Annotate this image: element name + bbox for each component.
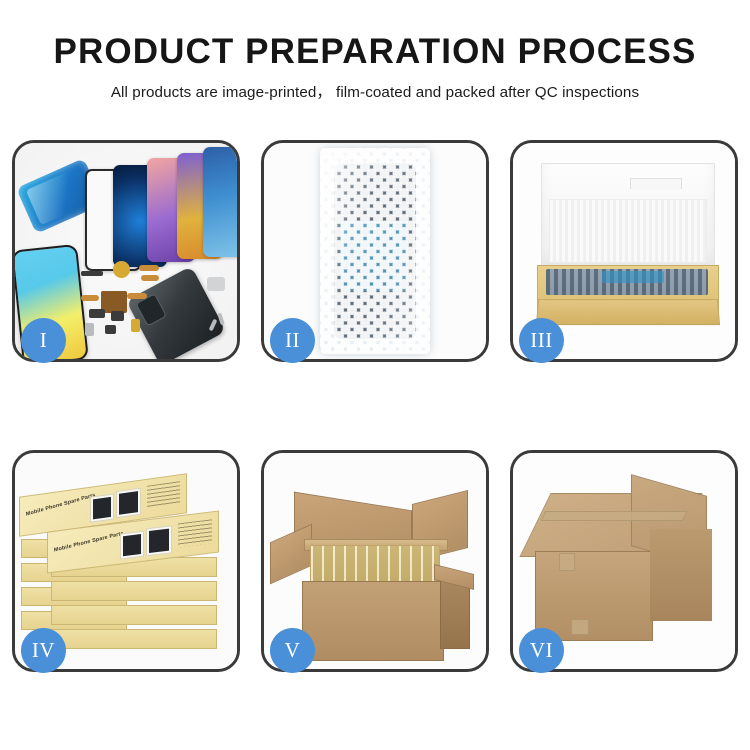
packed-contents: [546, 269, 708, 295]
part-connector-a: [89, 309, 105, 318]
part-flex-d: [127, 293, 147, 299]
steps-grid: I II III: [12, 140, 738, 672]
part-button: [85, 323, 94, 336]
page-subtitle: All products are image-printed， film-coa…: [0, 80, 750, 102]
bubble-wrap-sheet: [320, 148, 430, 354]
step-panel-4: Mobile Phone Spare Parts Mobile Phone Sp…: [12, 450, 240, 672]
part-screw-b: [217, 313, 225, 326]
box-screen-thumb: [146, 525, 172, 556]
part-screw-a: [209, 319, 218, 332]
step-badge-3: III: [519, 318, 564, 363]
carton-front-face: [302, 581, 444, 661]
step-panel-5: V: [261, 450, 489, 672]
part-vibrator: [105, 325, 116, 334]
step-badge-1: I: [21, 318, 66, 363]
step-badge-5: V: [270, 628, 315, 673]
part-battery-tab: [131, 319, 140, 332]
part-flex-b: [141, 275, 159, 281]
part-camera-ring: [113, 261, 130, 278]
seal-tape-front-b: [571, 619, 589, 635]
step-panel-6: VI: [510, 450, 738, 672]
box-spec-lines: [178, 519, 212, 547]
step-panel-1: I: [12, 140, 240, 362]
part-flex-c: [81, 295, 99, 301]
box-screen-thumb: [116, 488, 141, 519]
film-gloss: [320, 148, 430, 354]
carton-front-face: [535, 551, 653, 641]
lid-tab: [630, 178, 682, 189]
box-spec-lines: [147, 481, 180, 509]
carton-right-face: [650, 529, 712, 621]
seal-tape-front-a: [559, 553, 575, 571]
page-title: PRODUCT PREPARATION PROCESS: [0, 34, 750, 71]
product-preparation-infographic: PRODUCT PREPARATION PROCESS All products…: [0, 0, 750, 750]
part-connector-b: [111, 311, 124, 321]
seal-tape-top: [541, 511, 688, 521]
part-speaker: [81, 271, 103, 276]
step-badge-4: IV: [21, 628, 66, 673]
box-screen-thumb: [120, 531, 144, 560]
step-badge-2: II: [270, 318, 315, 363]
carton-flap-left: [270, 524, 312, 585]
step-panel-2: II: [261, 140, 489, 362]
step-badge-6: VI: [519, 628, 564, 673]
foam-insert: [549, 199, 707, 263]
box-label-text: Mobile Phone Spare Parts: [26, 492, 96, 517]
part-tool: [207, 277, 225, 291]
box-screen-thumb: [90, 493, 114, 522]
box-label-text: Mobile Phone Spare Parts: [54, 531, 124, 554]
stacked-box: [51, 629, 217, 649]
tray-front-panel: [536, 299, 720, 325]
stacked-box: [51, 605, 217, 625]
header: PRODUCT PREPARATION PROCESS All products…: [0, 0, 750, 102]
stacked-box: [51, 581, 217, 601]
part-flex-a: [139, 265, 159, 271]
step-panel-3: III: [510, 140, 738, 362]
